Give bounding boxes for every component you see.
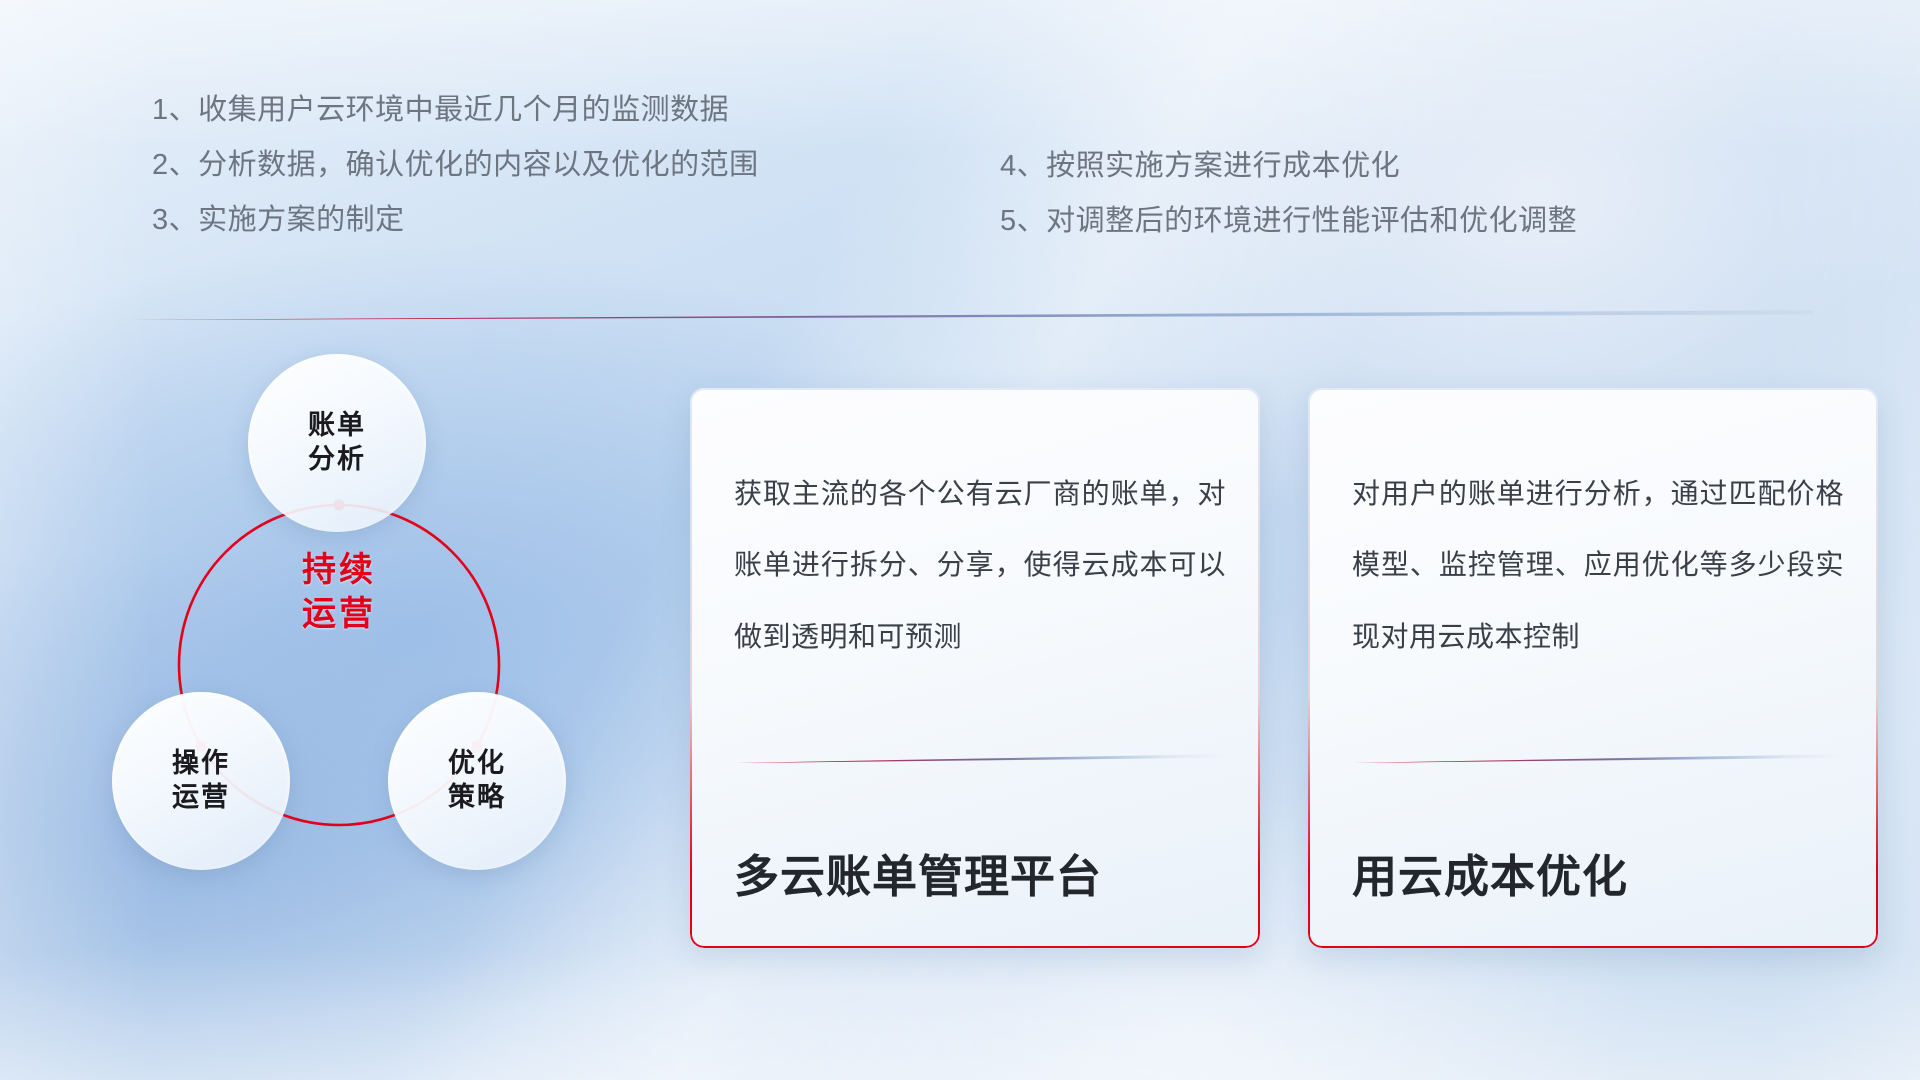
- venn-diagram: 账单 分析 操作 运营 优化 策略 持续 运营: [100, 350, 620, 960]
- feature-card-cost-optimization[interactable]: 对用户的账单进行分析，通过匹配价格模型、监控管理、应用优化等多少段实现对用云成本…: [1308, 388, 1878, 948]
- bubble-label-line1: 优化: [448, 747, 506, 781]
- venn-center-line2: 运营: [254, 592, 424, 636]
- step-item: 4、按照实施方案进行成本优化: [1000, 152, 1720, 181]
- feature-card-multicloud-billing[interactable]: 获取主流的各个公有云厂商的账单，对账单进行拆分、分享，使得云成本可以做到透明和可…: [690, 388, 1260, 948]
- steps-list-left: 1、收集用户云环境中最近几个月的监测数据 2、分析数据，确认优化的内容以及优化的…: [152, 96, 852, 261]
- bubble-label-line2: 策略: [448, 781, 506, 815]
- bubble-label-line2: 运营: [172, 781, 230, 815]
- section-divider: [103, 310, 1813, 320]
- bubble-label-line2: 分析: [308, 443, 366, 477]
- bubble-operations[interactable]: 操作 运营: [112, 692, 290, 870]
- step-item: 1、收集用户云环境中最近几个月的监测数据: [152, 96, 852, 125]
- card-divider: [1352, 754, 1844, 763]
- card-title: 用云成本优化: [1352, 840, 1854, 905]
- venn-center-line1: 持续: [254, 548, 424, 592]
- card-title: 多云账单管理平台: [734, 840, 1236, 905]
- card-body-text: 对用户的账单进行分析，通过匹配价格模型、监控管理、应用优化等多少段实现对用云成本…: [1352, 458, 1844, 672]
- card-body-text: 获取主流的各个公有云厂商的账单，对账单进行拆分、分享，使得云成本可以做到透明和可…: [734, 458, 1226, 672]
- step-item: 5、对调整后的环境进行性能评估和优化调整: [1000, 207, 1720, 236]
- section-divider-bar: [103, 310, 1813, 320]
- venn-center-label: 持续 运营: [254, 548, 424, 636]
- bubble-optimization-strategy[interactable]: 优化 策略: [388, 692, 566, 870]
- bubble-label-line1: 操作: [172, 747, 230, 781]
- bubble-label-line1: 账单: [308, 409, 366, 443]
- steps-list-right: 4、按照实施方案进行成本优化 5、对调整后的环境进行性能评估和优化调整: [1000, 152, 1720, 262]
- card-divider: [734, 754, 1226, 763]
- step-item: 3、实施方案的制定: [152, 206, 852, 235]
- bubble-billing-analysis[interactable]: 账单 分析: [248, 354, 426, 532]
- step-item: 2、分析数据，确认优化的内容以及优化的范围: [152, 151, 852, 180]
